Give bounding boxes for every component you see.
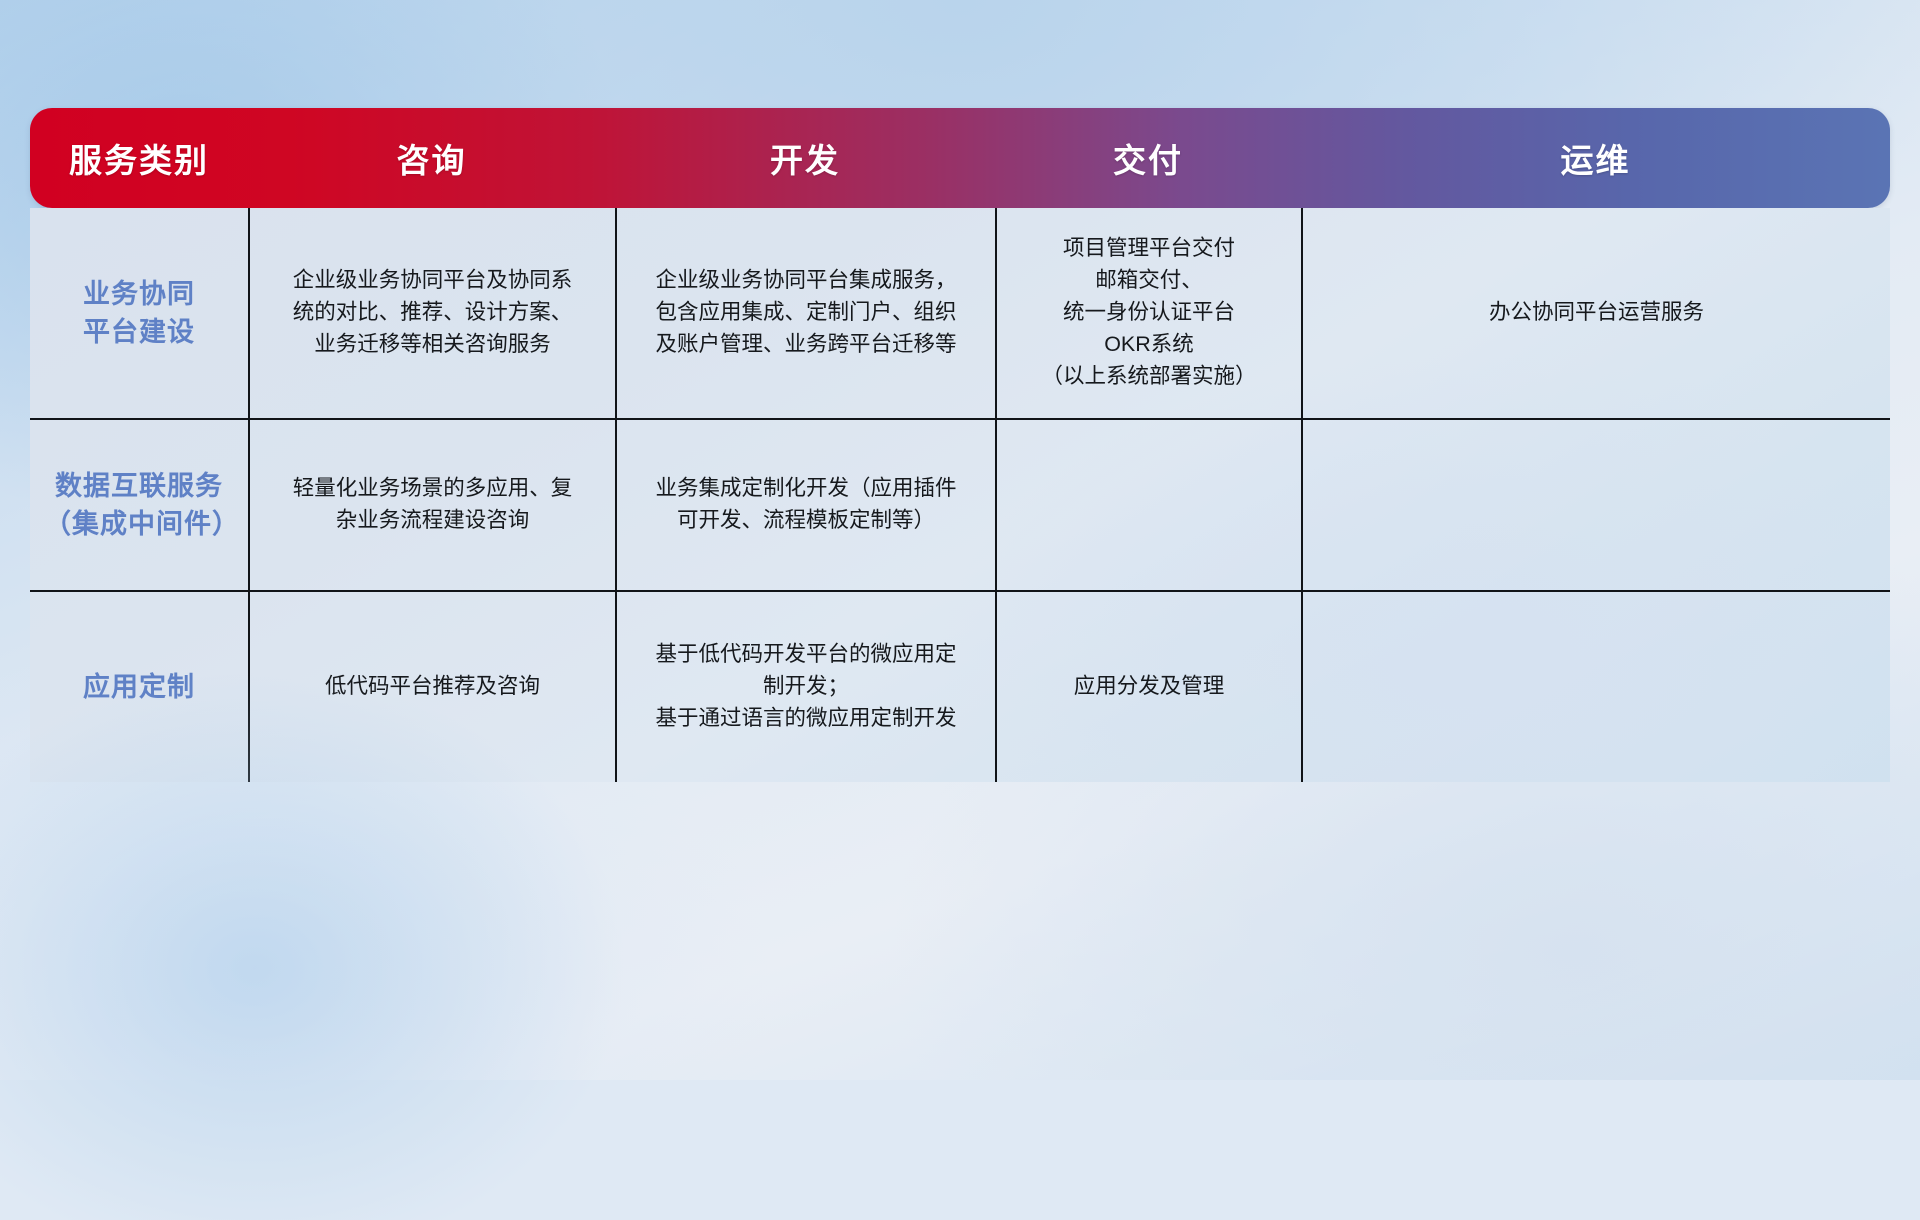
row-category-label: 数据互联服务 （集成中间件） bbox=[30, 420, 248, 590]
table-header-cell-operations: 运维 bbox=[1301, 108, 1890, 208]
slide-canvas: 服务类别 咨询 开发 交付 运维 业务协同 平台建设 企业级业务协同平台及协同系… bbox=[0, 0, 1920, 1080]
cell-development: 企业级业务协同平台集成服务， 包含应用集成、定制门户、组织 及账户管理、业务跨平… bbox=[615, 208, 995, 418]
cell-consulting: 低代码平台推荐及咨询 bbox=[248, 592, 615, 782]
cell-consulting: 轻量化业务场景的多应用、复 杂业务流程建设咨询 bbox=[248, 420, 615, 590]
cell-operations bbox=[1301, 592, 1890, 782]
cell-development: 基于低代码开发平台的微应用定 制开发； 基于通过语言的微应用定制开发 bbox=[615, 592, 995, 782]
table-header-cell-category: 服务类别 bbox=[30, 108, 248, 208]
row-category-label: 应用定制 bbox=[30, 592, 248, 782]
cell-consulting: 企业级业务协同平台及协同系 统的对比、推荐、设计方案、 业务迁移等相关咨询服务 bbox=[248, 208, 615, 418]
service-matrix-table: 服务类别 咨询 开发 交付 运维 业务协同 平台建设 企业级业务协同平台及协同系… bbox=[30, 108, 1890, 782]
table-row: 业务协同 平台建设 企业级业务协同平台及协同系 统的对比、推荐、设计方案、 业务… bbox=[30, 208, 1890, 418]
table-header-cell-development: 开发 bbox=[615, 108, 995, 208]
table-body: 业务协同 平台建设 企业级业务协同平台及协同系 统的对比、推荐、设计方案、 业务… bbox=[30, 208, 1890, 782]
cell-operations: 办公协同平台运营服务 bbox=[1301, 208, 1890, 418]
table-row: 数据互联服务 （集成中间件） 轻量化业务场景的多应用、复 杂业务流程建设咨询 业… bbox=[30, 418, 1890, 590]
row-category-label: 业务协同 平台建设 bbox=[30, 208, 248, 418]
table-row: 应用定制 低代码平台推荐及咨询 基于低代码开发平台的微应用定 制开发； 基于通过… bbox=[30, 590, 1890, 782]
table-header-cell-delivery: 交付 bbox=[995, 108, 1301, 208]
cell-operations bbox=[1301, 420, 1890, 590]
cell-delivery: 应用分发及管理 bbox=[995, 592, 1301, 782]
cell-development: 业务集成定制化开发（应用插件 可开发、流程模板定制等） bbox=[615, 420, 995, 590]
cell-delivery bbox=[995, 420, 1301, 590]
cell-delivery: 项目管理平台交付 邮箱交付、 统一身份认证平台 OKR系统 （以上系统部署实施） bbox=[995, 208, 1301, 418]
table-header-row: 服务类别 咨询 开发 交付 运维 bbox=[30, 108, 1890, 208]
table-header-cell-consulting: 咨询 bbox=[248, 108, 615, 208]
